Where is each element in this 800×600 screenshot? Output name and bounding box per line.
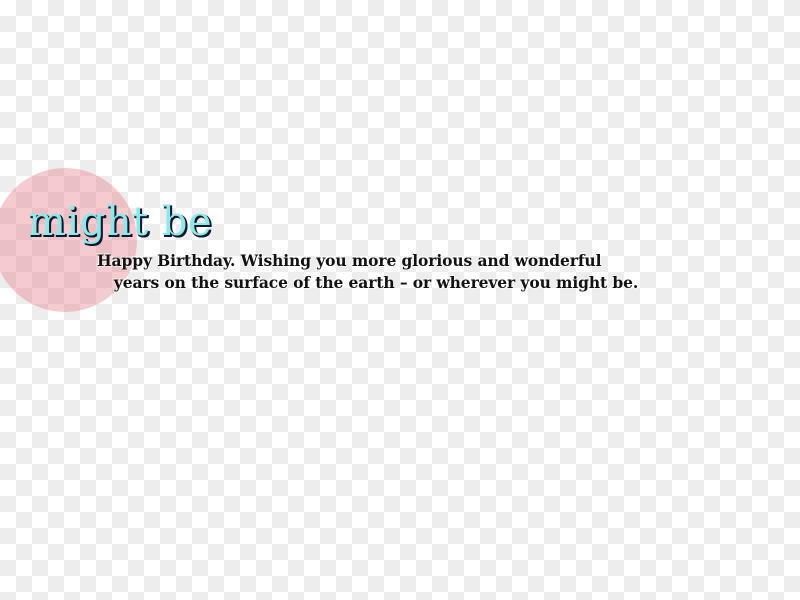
message-line-1: Happy Birthday. Wishing you more gloriou… xyxy=(97,250,697,272)
message-line-2: years on the surface of the earth – or w… xyxy=(97,272,697,294)
graphic-canvas: might be Happy Birthday. Wishing you mor… xyxy=(0,0,800,600)
headline-might-be: might be xyxy=(28,202,212,242)
birthday-message: Happy Birthday. Wishing you more gloriou… xyxy=(97,250,697,294)
